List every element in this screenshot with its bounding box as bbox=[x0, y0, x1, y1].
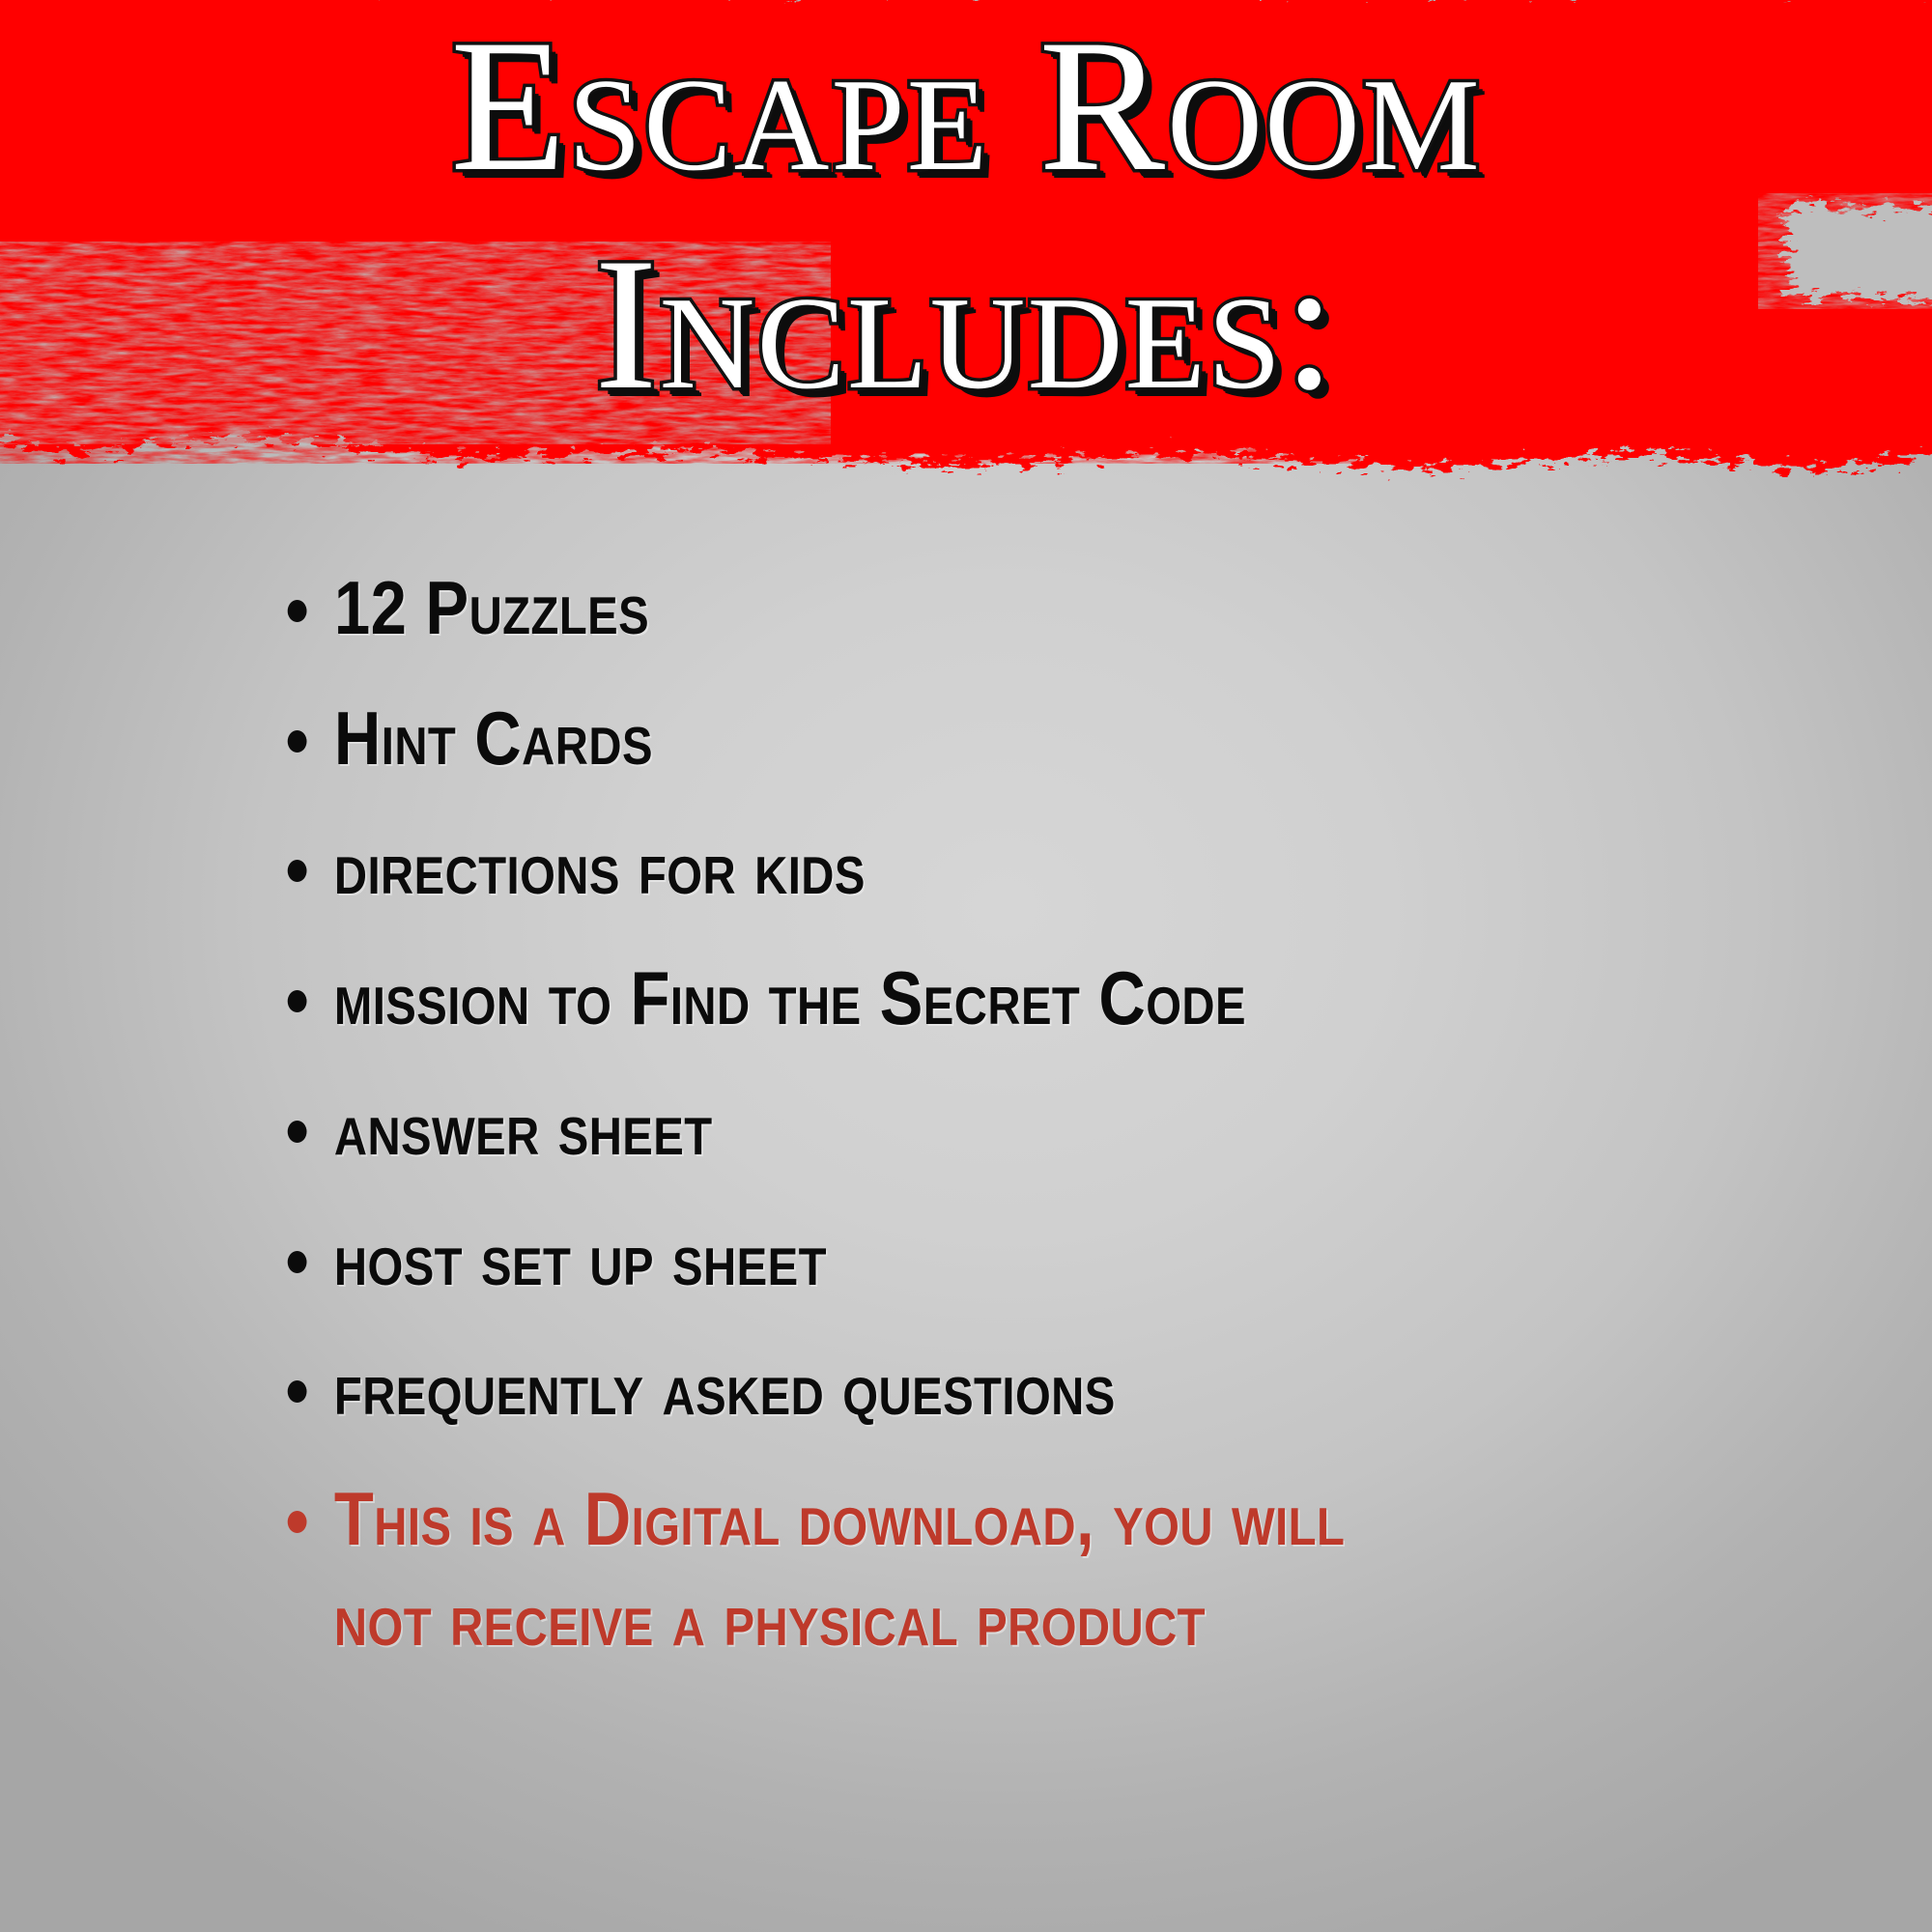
list-item-label: frequently asked questions bbox=[334, 1346, 1116, 1431]
list-item-label: host set up sheet bbox=[334, 1216, 827, 1301]
list-item: frequently asked questions bbox=[286, 1339, 1648, 1439]
list-item: mission to Find the Secret Code bbox=[286, 949, 1648, 1049]
list-item-label: mission to Find the Secret Code bbox=[334, 955, 1246, 1040]
list-item: directions for kids bbox=[286, 818, 1648, 919]
list-item: 12 Puzzles bbox=[286, 558, 1648, 659]
list-item-label: Hint Cards bbox=[334, 696, 653, 781]
poster-canvas: Escape Room Includes: 12 Puzzles Hint Ca… bbox=[0, 0, 1932, 1932]
list-item-label: This is a Digital download, you will not… bbox=[334, 1469, 1398, 1669]
list-item: answer sheet bbox=[286, 1079, 1648, 1179]
list-item-label: 12 Puzzles bbox=[334, 565, 649, 650]
list-item: host set up sheet bbox=[286, 1209, 1648, 1310]
includes-list: 12 Puzzles Hint Cards directions for kid… bbox=[286, 558, 1870, 1670]
list-item-label: answer sheet bbox=[334, 1086, 713, 1171]
red-brush-stroke-banner bbox=[0, 0, 1932, 502]
list-item: Hint Cards bbox=[286, 689, 1648, 789]
list-item-digital-download-notice: This is a Digital download, you will not… bbox=[286, 1469, 1648, 1669]
list-item-label: directions for kids bbox=[334, 825, 866, 910]
